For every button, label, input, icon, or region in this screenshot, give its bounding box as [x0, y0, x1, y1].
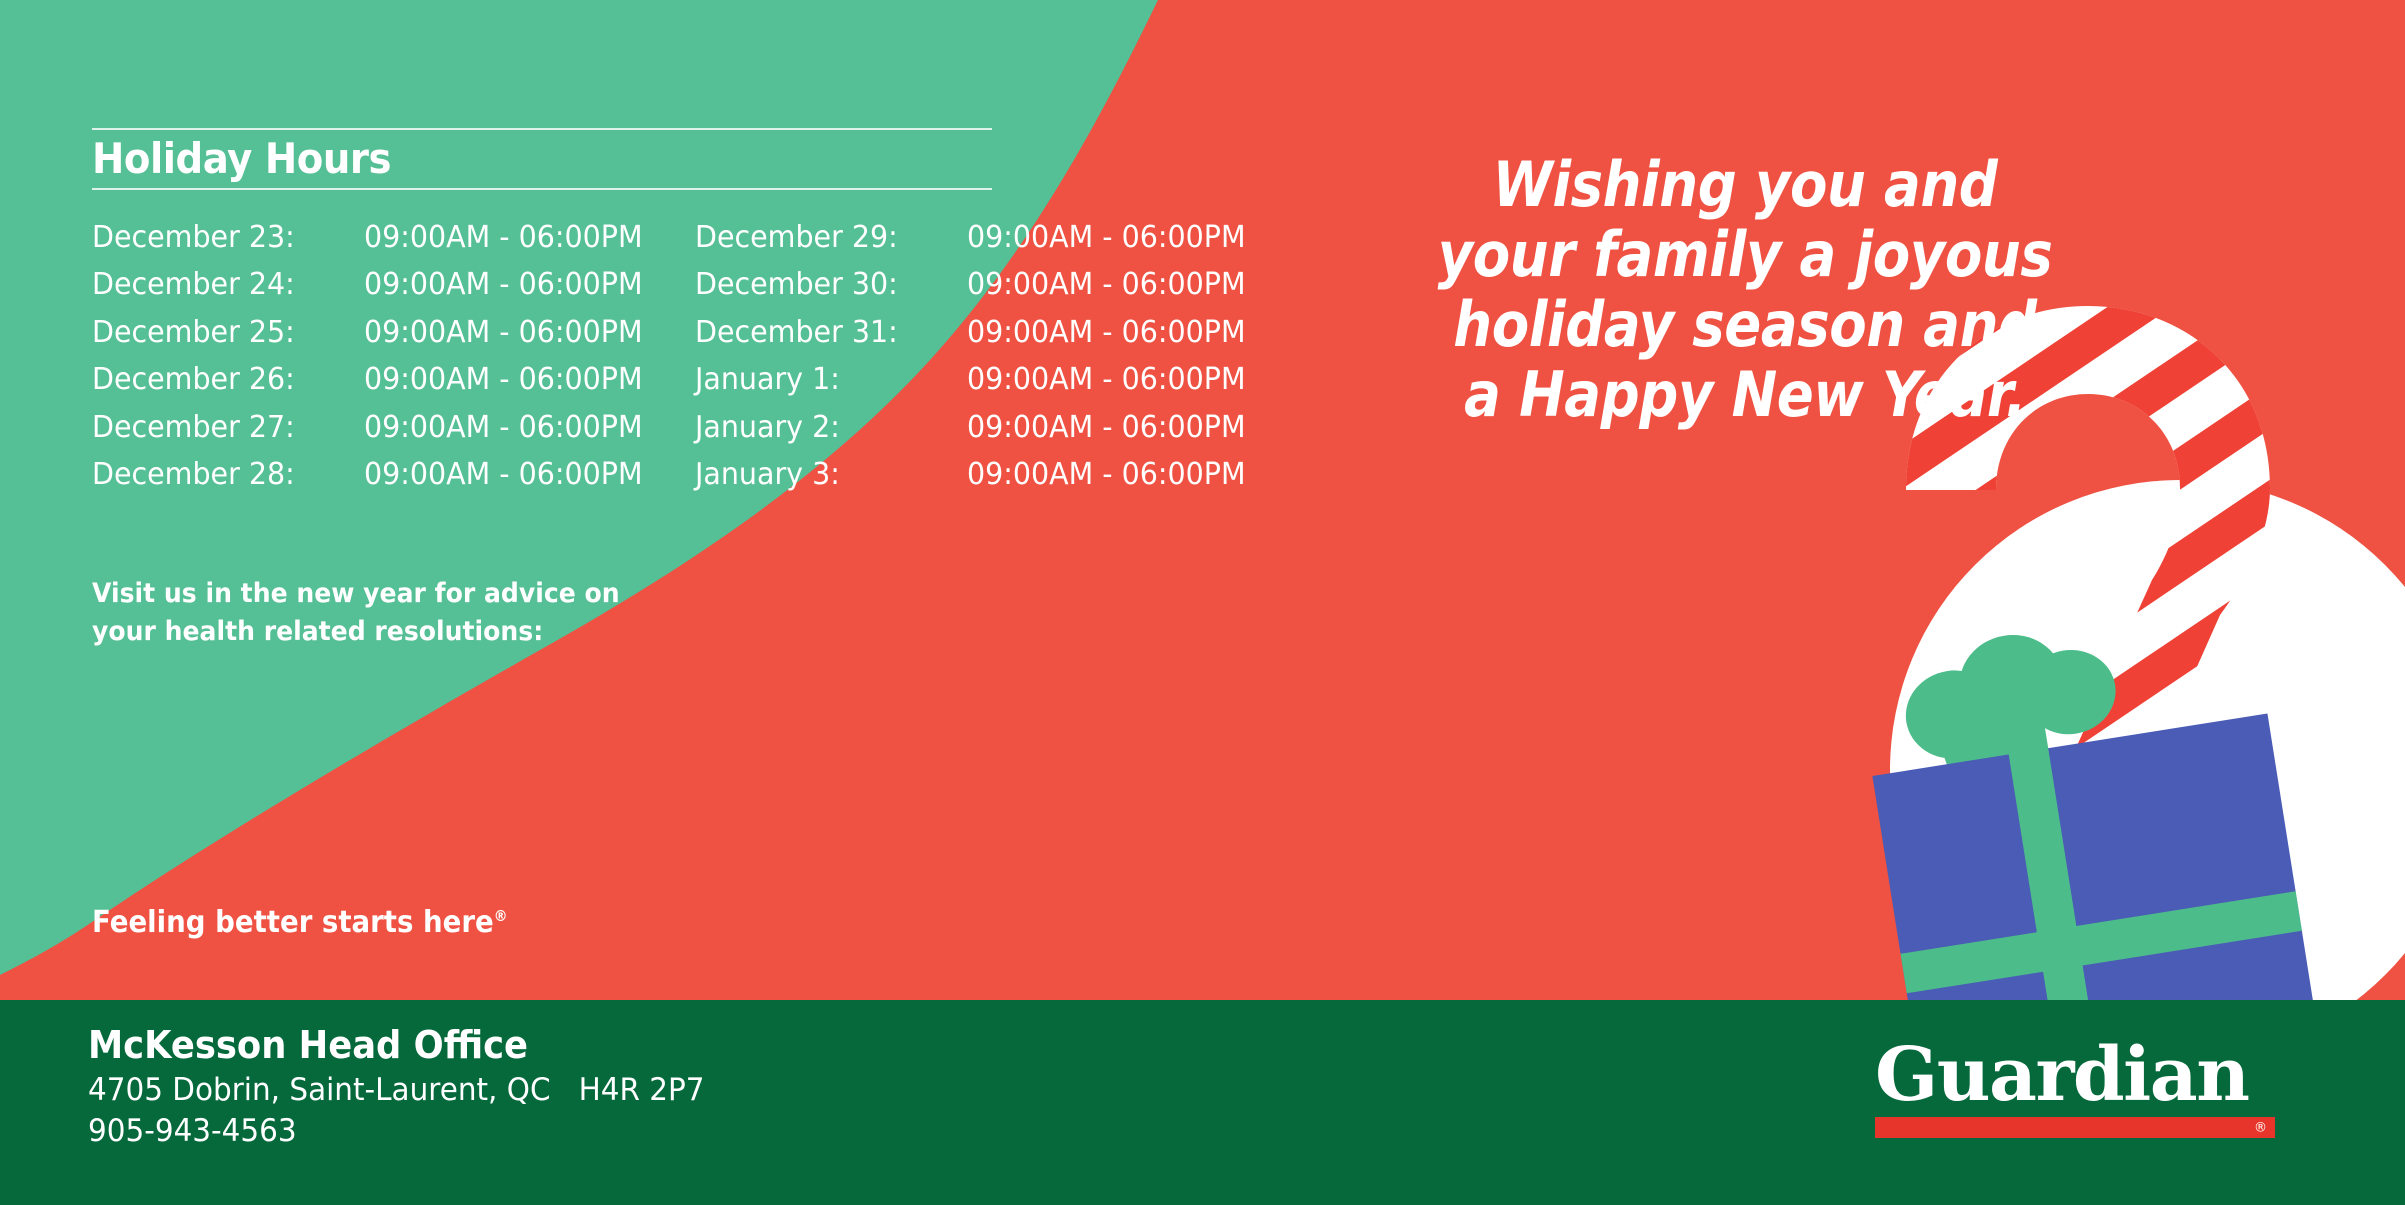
hours-time: 09:00AM - 06:00PM [967, 410, 1246, 445]
hours-time: 09:00AM - 06:00PM [364, 315, 643, 350]
greeting-line-3: holiday season and [1380, 290, 2110, 360]
greeting-line-4: a Happy New Year. [1380, 360, 2110, 430]
hours-date: December 26: [92, 362, 350, 397]
hours-date: December 23: [92, 220, 350, 255]
hours-title: Holiday Hours [92, 130, 1040, 188]
hours-row: December 24: 09:00AM - 06:00PM [92, 267, 657, 315]
hours-time: 09:00AM - 06:00PM [967, 315, 1246, 350]
hours-time: 09:00AM - 06:00PM [967, 220, 1246, 255]
hours-row: December 28: 09:00AM - 06:00PM [92, 457, 657, 505]
hours-time: 09:00AM - 06:00PM [364, 220, 643, 255]
hours-row: January 1: 09:00AM - 06:00PM [695, 362, 1260, 410]
office-address: 4705 Dobrin, Saint-Laurent, QC H4R 2P7 [88, 1070, 705, 1111]
registered-mark-icon: ® [494, 907, 508, 925]
hours-date: December 31: [695, 315, 953, 350]
tagline: Feeling better starts here® [92, 905, 508, 940]
visit-note: Visit us in the new year for advice on y… [92, 575, 620, 652]
registered-mark-icon: ® [2254, 1121, 2267, 1134]
hours-columns: December 23: 09:00AM - 06:00PM December … [92, 220, 1122, 505]
greeting-line-2: your family a joyous [1380, 220, 2110, 290]
hours-time: 09:00AM - 06:00PM [967, 457, 1246, 492]
footer-bar: McKesson Head Office 4705 Dobrin, Saint-… [0, 1000, 2405, 1205]
hours-date: December 24: [92, 267, 350, 302]
hours-row: December 29: 09:00AM - 06:00PM [695, 220, 1260, 268]
office-name: McKesson Head Office [88, 1022, 692, 1070]
visit-note-line-2: your health related resolutions: [92, 613, 620, 651]
hours-time: 09:00AM - 06:00PM [967, 362, 1246, 397]
hours-time: 09:00AM - 06:00PM [364, 457, 643, 492]
hours-column-2: December 29: 09:00AM - 06:00PM December … [695, 220, 1260, 505]
hours-date: December 28: [92, 457, 350, 492]
footer-contact-info: McKesson Head Office 4705 Dobrin, Saint-… [88, 1022, 737, 1152]
hours-row: December 31: 09:00AM - 06:00PM [695, 315, 1260, 363]
hours-row: December 23: 09:00AM - 06:00PM [92, 220, 657, 268]
hours-row: January 2: 09:00AM - 06:00PM [695, 410, 1260, 458]
hours-date: January 2: [695, 410, 953, 445]
greeting-message: Wishing you and your family a joyous hol… [1330, 150, 2160, 430]
hours-column-1: December 23: 09:00AM - 06:00PM December … [92, 220, 657, 505]
hours-row: December 27: 09:00AM - 06:00PM [92, 410, 657, 458]
visit-note-line-1: Visit us in the new year for advice on [92, 575, 620, 613]
holiday-hours-block: Holiday Hours December 23: 09:00AM - 06:… [92, 128, 1122, 505]
tagline-text: Feeling better starts here [92, 905, 494, 940]
hours-time: 09:00AM - 06:00PM [967, 267, 1246, 302]
hours-date: January 1: [695, 362, 953, 397]
hours-time: 09:00AM - 06:00PM [364, 362, 643, 397]
hours-row: December 30: 09:00AM - 06:00PM [695, 267, 1260, 315]
hours-date: December 30: [695, 267, 953, 302]
hours-row: January 3: 09:00AM - 06:00PM [695, 457, 1260, 505]
hours-row: December 25: 09:00AM - 06:00PM [92, 315, 657, 363]
guardian-logo: Guardian ® [1875, 1040, 2275, 1138]
hours-date: December 27: [92, 410, 350, 445]
guardian-logo-bar: ® [1875, 1117, 2275, 1138]
hours-date: January 3: [695, 457, 953, 492]
hours-rule-bottom [92, 188, 992, 190]
office-phone: 905-943-4563 [88, 1111, 705, 1152]
hours-date: December 25: [92, 315, 350, 350]
hours-time: 09:00AM - 06:00PM [364, 410, 643, 445]
holiday-greeting-card: Holiday Hours December 23: 09:00AM - 06:… [0, 0, 2405, 1205]
guardian-wordmark: Guardian [1875, 1040, 2275, 1110]
greeting-line-1: Wishing you and [1380, 150, 2110, 220]
hours-time: 09:00AM - 06:00PM [364, 267, 643, 302]
hours-row: December 26: 09:00AM - 06:00PM [92, 362, 657, 410]
hours-date: December 29: [695, 220, 953, 255]
